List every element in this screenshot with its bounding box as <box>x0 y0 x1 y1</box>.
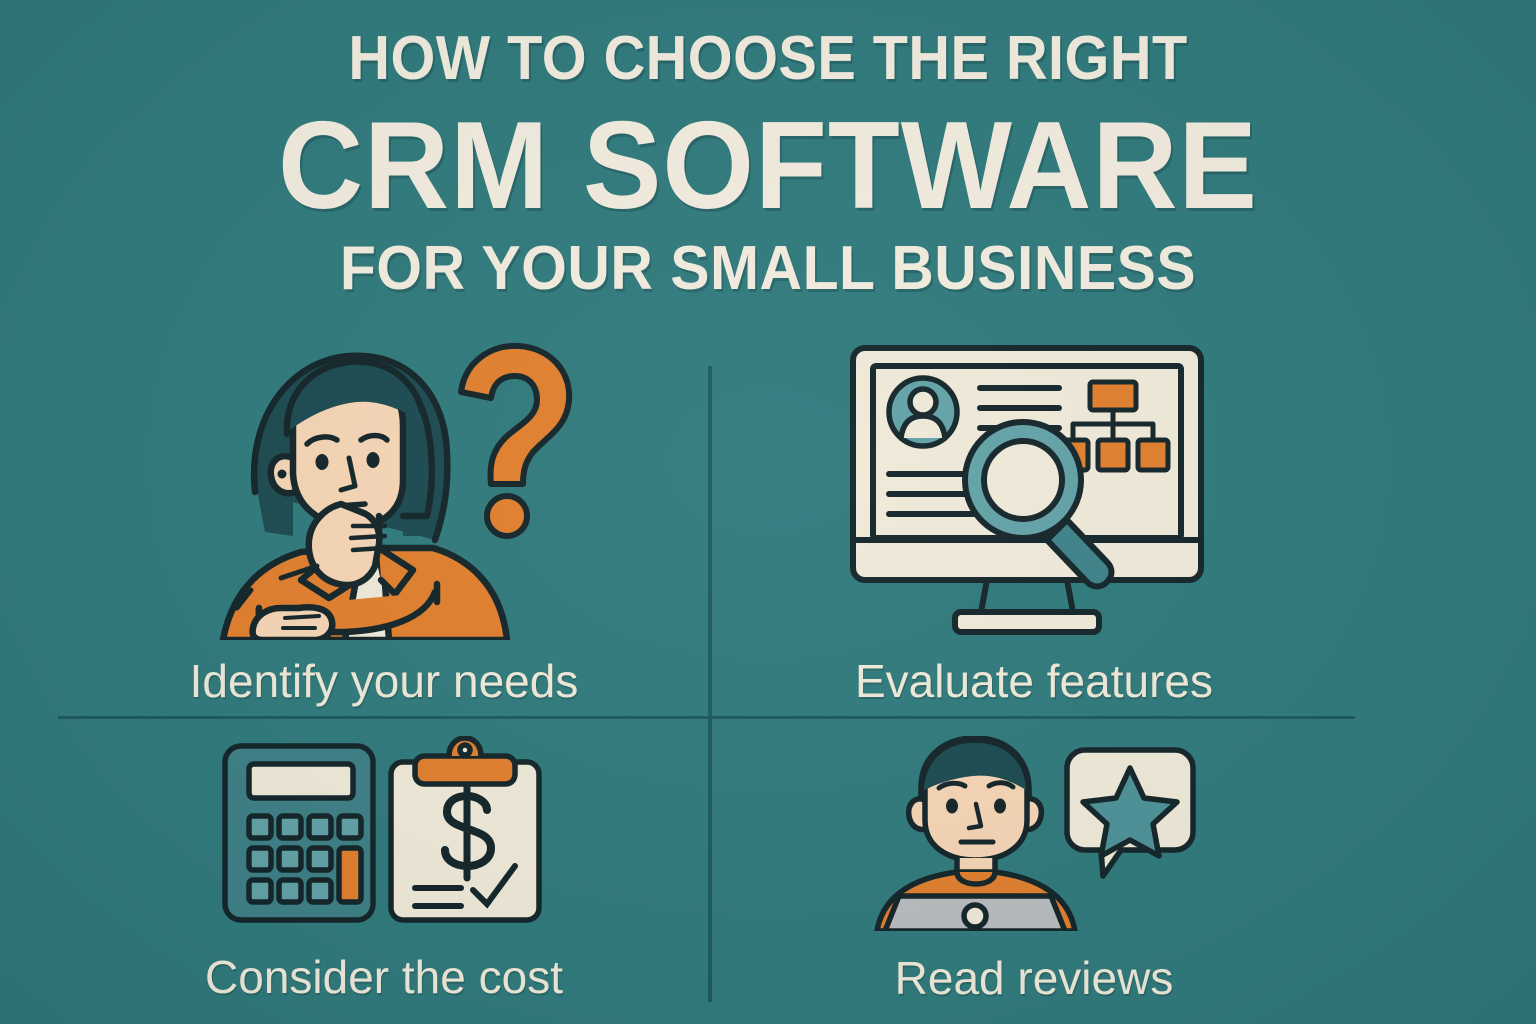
title-line-2-main: CRM SOFTWARE <box>38 104 1497 228</box>
poster-title-block: HOW TO CHOOSE THE RIGHT CRM SOFTWARE FOR… <box>0 28 1536 300</box>
question-mark-glyph <box>461 346 569 536</box>
step-label-consider-cost: Consider the cost <box>205 954 563 1000</box>
step-label-read-reviews: Read reviews <box>895 955 1174 1001</box>
step-label-evaluate-features: Evaluate features <box>855 658 1213 704</box>
step-card-evaluate-features[interactable]: Evaluate features <box>712 340 1356 704</box>
horizontal-divider <box>58 716 1355 719</box>
infographic-poster: HOW TO CHOOSE THE RIGHT CRM SOFTWARE FOR… <box>0 0 1536 1024</box>
title-line-3: FOR YOUR SMALL BUSINESS <box>38 238 1497 300</box>
calculator-and-dollar-clipboard-icon <box>219 736 549 926</box>
step-label-identify-needs: Identify your needs <box>190 658 579 704</box>
monitor-dashboard-with-magnifier-icon <box>845 340 1223 640</box>
title-line-1: HOW TO CHOOSE THE RIGHT <box>54 28 1482 90</box>
step-card-consider-cost[interactable]: Consider the cost <box>60 736 708 1000</box>
star-review-bubble-glyph <box>1067 750 1193 876</box>
person-at-laptop-with-star-review-icon <box>869 736 1199 931</box>
calculator-glyph <box>225 746 373 920</box>
step-card-read-reviews[interactable]: Read reviews <box>712 736 1356 1001</box>
thinking-woman-with-question-mark-icon <box>189 340 579 640</box>
step-card-identify-needs[interactable]: Identify your needs <box>60 340 708 704</box>
